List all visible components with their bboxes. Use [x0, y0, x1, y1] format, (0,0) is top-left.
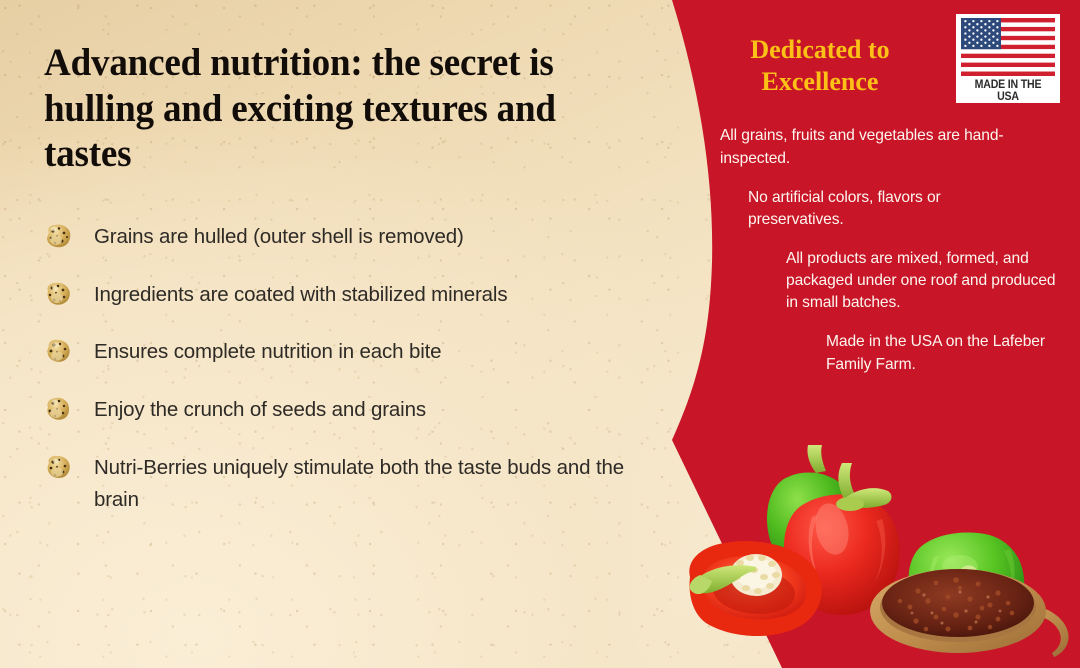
badge-caption: MADE IN THE USA — [965, 79, 1051, 103]
nutri-berry-nugget-icon — [44, 455, 72, 480]
nutri-berry-nugget-icon — [44, 397, 72, 422]
list-item-label: Grains are hulled (outer shell is remove… — [94, 221, 464, 253]
claim-no-artificial: No artificial colors, flavors or preserv… — [748, 187, 1018, 231]
claim-family-farm: Made in the USA on the Lafeber Family Fa… — [826, 331, 1046, 375]
nutri-berry-nugget-icon — [44, 339, 72, 364]
claim-hand-inspected: All grains, fruits and vegetables are ha… — [720, 125, 1010, 169]
list-item: Ingredients are coated with stabilized m… — [44, 279, 654, 311]
list-item: Grains are hulled (outer shell is remove… — [44, 221, 654, 253]
list-item-label: Ingredients are coated with stabilized m… — [94, 279, 507, 311]
list-item-label: Nutri-Berries uniquely stimulate both th… — [94, 452, 654, 516]
page-title: Advanced nutrition: the secret is hullin… — [44, 40, 624, 177]
nutri-berry-nugget-icon — [44, 282, 72, 307]
list-item: Ensures complete nutrition in each bite — [44, 336, 654, 368]
made-in-the-usa-badge: MADE IN THE USA — [956, 14, 1060, 103]
usa-flag-icon — [961, 18, 1055, 76]
quality-claims: All grains, fruits and vegetables are ha… — [700, 125, 1030, 375]
claim-one-roof: All products are mixed, formed, and pack… — [786, 248, 1056, 314]
benefits-list: Grains are hulled (outer shell is remove… — [44, 221, 654, 516]
left-content-column: Advanced nutrition: the secret is hullin… — [44, 40, 654, 515]
dedicated-to-excellence-title: Dedicated to Excellence — [700, 34, 940, 97]
list-item: Nutri-Berries uniquely stimulate both th… — [44, 452, 654, 516]
list-item-label: Ensures complete nutrition in each bite — [94, 336, 441, 368]
list-item-label: Enjoy the crunch of seeds and grains — [94, 394, 426, 426]
nutri-berry-nugget-icon — [44, 224, 72, 249]
list-item: Enjoy the crunch of seeds and grains — [44, 394, 654, 426]
nutrition-banner: Advanced nutrition: the secret is hullin… — [0, 0, 1080, 668]
